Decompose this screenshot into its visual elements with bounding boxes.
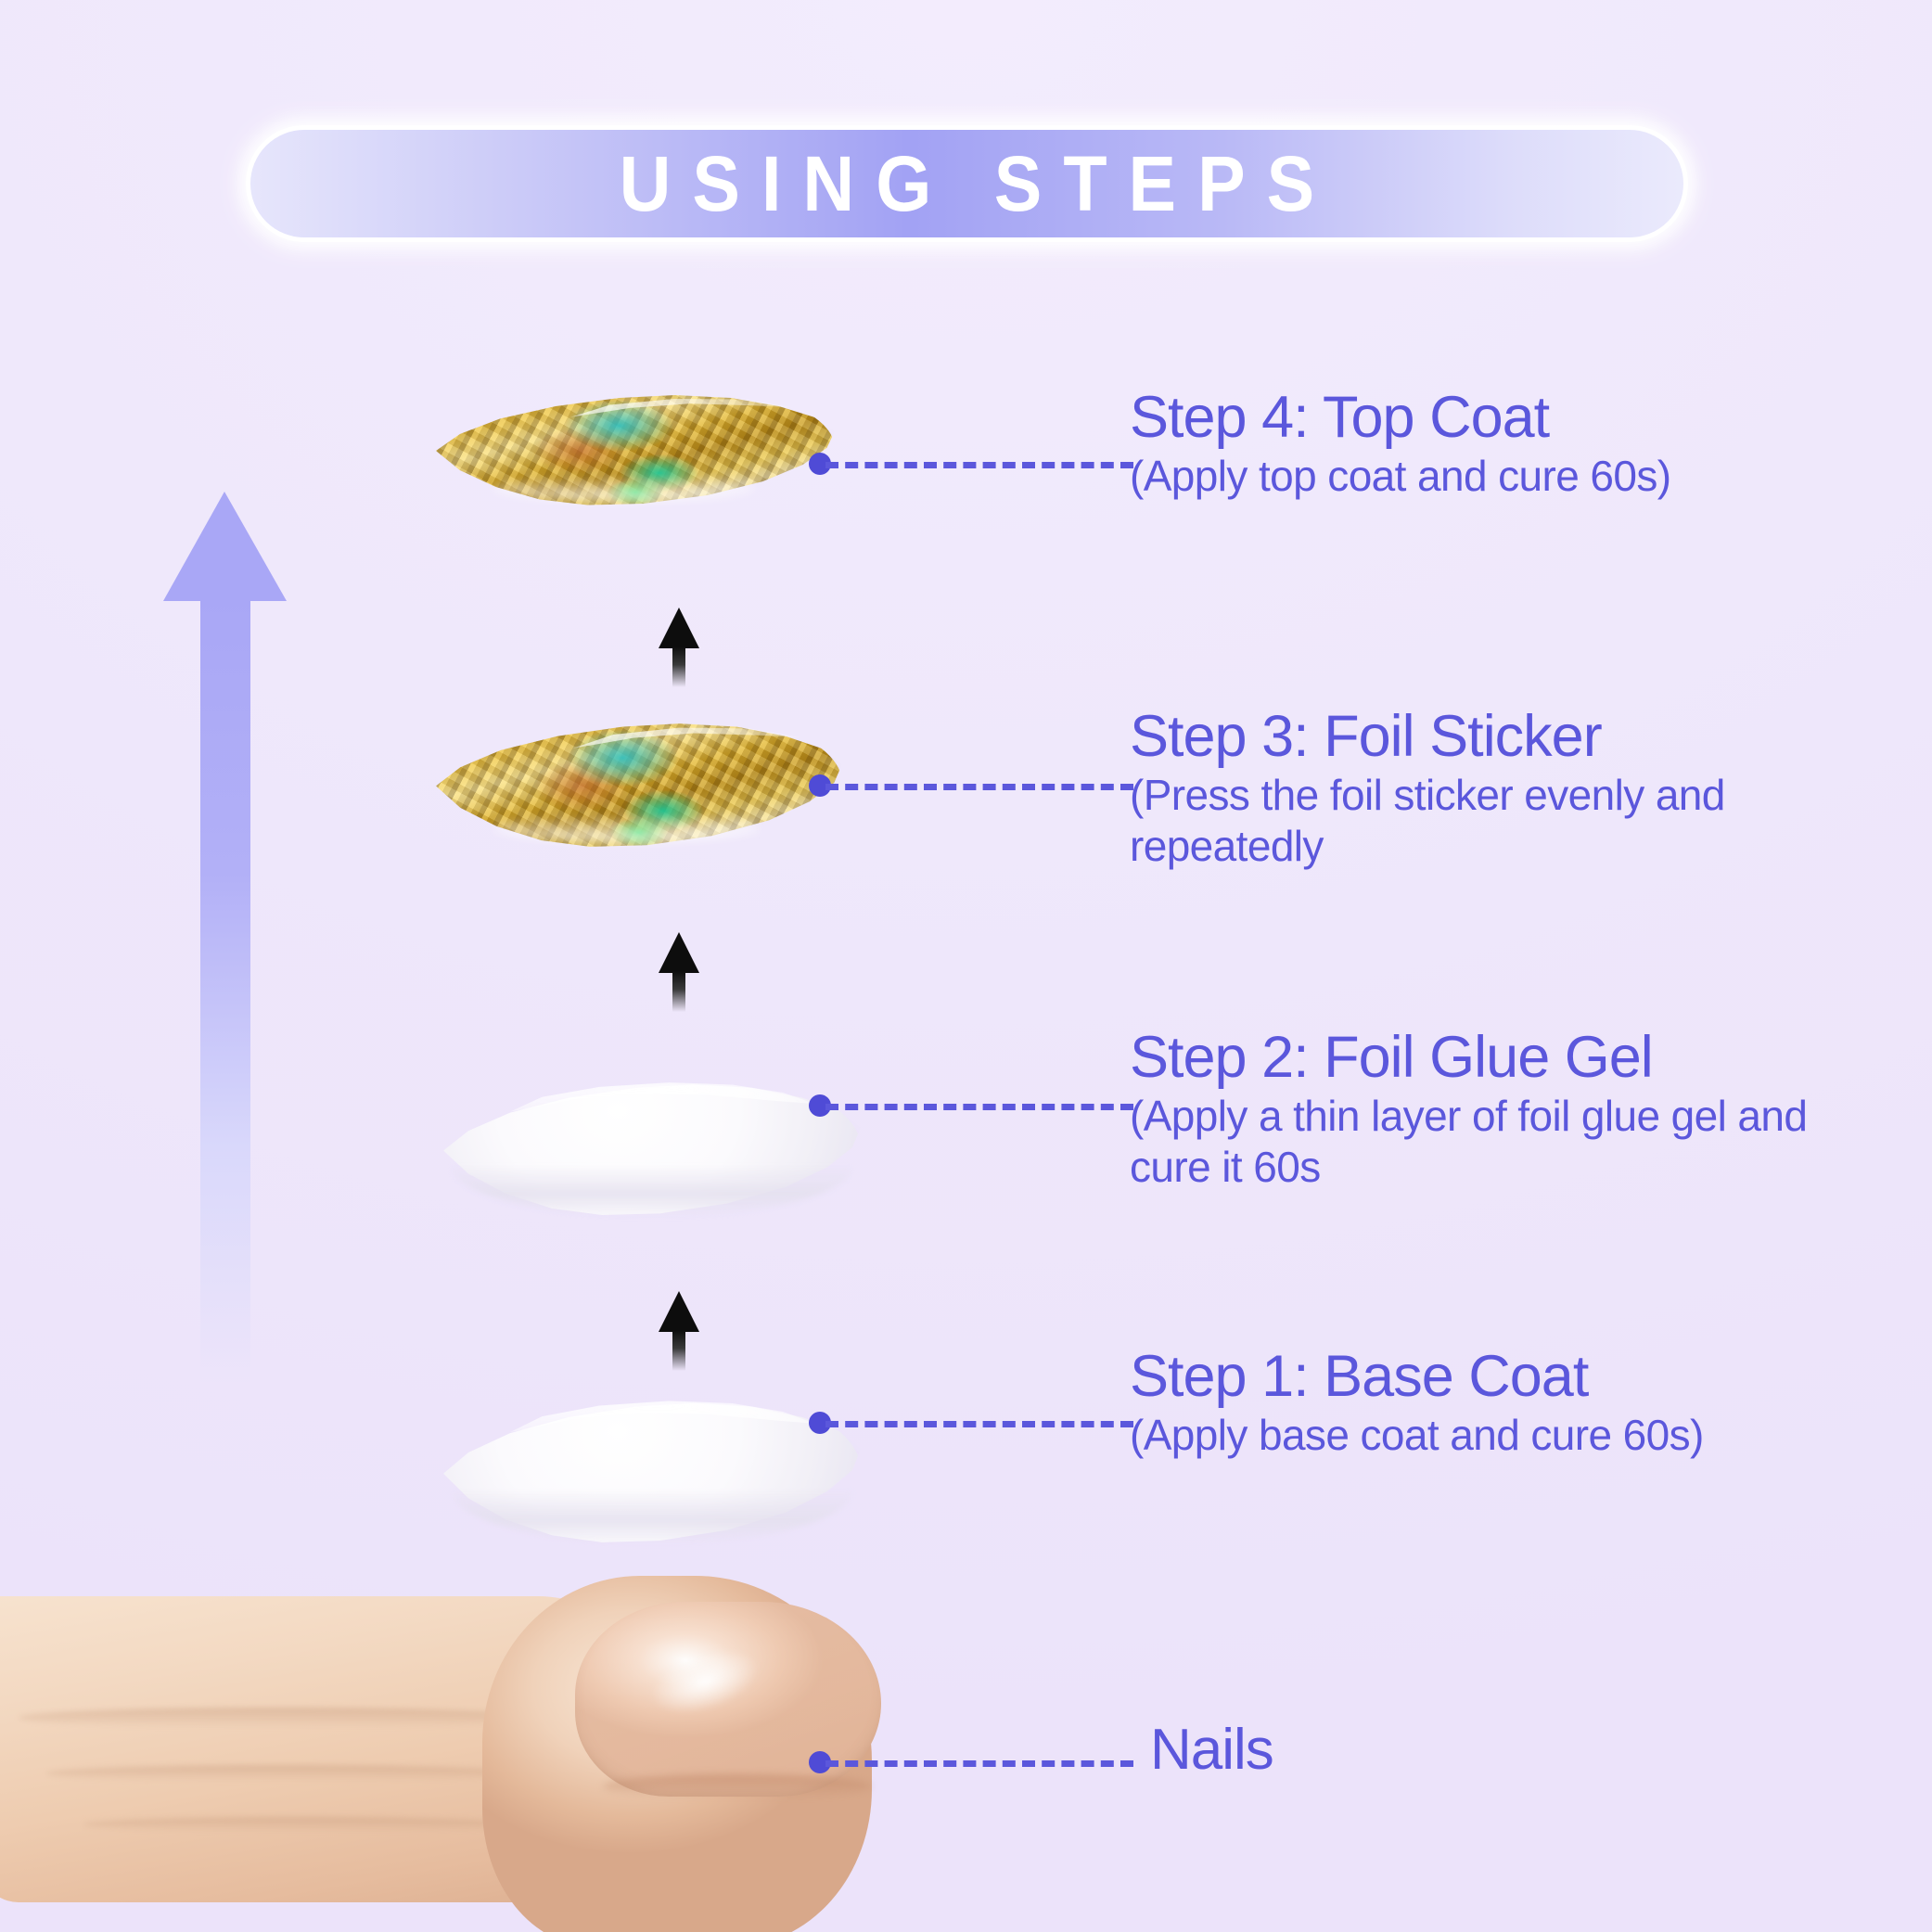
small-up-arrow-icon-3 bbox=[659, 608, 699, 687]
step-label-1: Step 1: Base Coat (Apply base coat and c… bbox=[1130, 1347, 1862, 1461]
small-arrow-head bbox=[659, 608, 699, 648]
finger-crease bbox=[19, 1708, 538, 1728]
step-description: (Apply a thin layer of foil glue gel and… bbox=[1130, 1091, 1862, 1192]
small-arrow-shaft bbox=[672, 646, 685, 687]
white-gel-nail-step2 bbox=[443, 1065, 861, 1230]
small-arrow-shaft bbox=[672, 1330, 685, 1371]
leader-line-step3 bbox=[809, 779, 1133, 792]
step-label-3: Step 3: Foil Sticker (Press the foil sti… bbox=[1130, 707, 1862, 871]
step-heading: Step 2: Foil Glue Gel bbox=[1130, 1028, 1862, 1087]
step-heading: Step 3: Foil Sticker bbox=[1130, 707, 1862, 766]
small-up-arrow-icon-2 bbox=[659, 932, 699, 1012]
step-description: (Apply top coat and cure 60s) bbox=[1130, 451, 1862, 501]
gold-foil-nail-step4 bbox=[436, 378, 835, 518]
small-arrow-shaft bbox=[672, 971, 685, 1012]
step-description: (Press the foil sticker evenly and repea… bbox=[1130, 770, 1862, 871]
finger-crease bbox=[46, 1765, 529, 1782]
white-gel-nail-step1 bbox=[443, 1382, 861, 1558]
leader-dash bbox=[825, 784, 1133, 790]
gold-foil-nail-step3 bbox=[436, 705, 842, 861]
leader-dash bbox=[825, 462, 1133, 468]
small-up-arrow-icon-1 bbox=[659, 1291, 699, 1371]
up-arrow-shaft bbox=[200, 599, 250, 1382]
nail-sheen-lower bbox=[492, 476, 755, 501]
nail-cuticle bbox=[603, 1774, 872, 1798]
leader-line-nails bbox=[809, 1756, 1133, 1769]
nails-label: Nails bbox=[1150, 1721, 1707, 1779]
fingertip-photo bbox=[0, 1568, 900, 1932]
leader-line-step2 bbox=[809, 1099, 1133, 1112]
small-arrow-head bbox=[659, 1291, 699, 1332]
step-heading: Step 4: Top Coat bbox=[1130, 388, 1862, 447]
step-heading: Step 1: Base Coat bbox=[1130, 1347, 1862, 1406]
leader-dash bbox=[825, 1104, 1133, 1110]
small-arrow-head bbox=[659, 932, 699, 973]
step-description: (Apply base coat and cure 60s) bbox=[1130, 1410, 1862, 1460]
up-arrow-head bbox=[163, 492, 287, 601]
nail-edge bbox=[452, 1435, 852, 1544]
title-banner: USING STEPS bbox=[246, 125, 1688, 242]
up-arrow-icon bbox=[163, 492, 287, 1382]
leader-dash bbox=[825, 1421, 1133, 1427]
finger-crease bbox=[83, 1817, 519, 1832]
step-label-4: Step 4: Top Coat (Apply top coat and cur… bbox=[1130, 388, 1862, 502]
step-label-2: Step 2: Foil Glue Gel (Apply a thin laye… bbox=[1130, 1028, 1862, 1192]
leader-line-step1 bbox=[809, 1416, 1133, 1429]
nail-edge bbox=[452, 1114, 852, 1216]
leader-dash bbox=[825, 1760, 1133, 1767]
page-title: USING STEPS bbox=[598, 145, 1337, 223]
banner-pill: USING STEPS bbox=[246, 125, 1688, 242]
nails-heading: Nails bbox=[1150, 1721, 1707, 1779]
nail-sheen-lower bbox=[493, 814, 761, 842]
infographic-canvas: USING STEPS Step 4: Top Coat (Apply top … bbox=[0, 0, 1932, 1932]
leader-line-step4 bbox=[809, 457, 1133, 470]
